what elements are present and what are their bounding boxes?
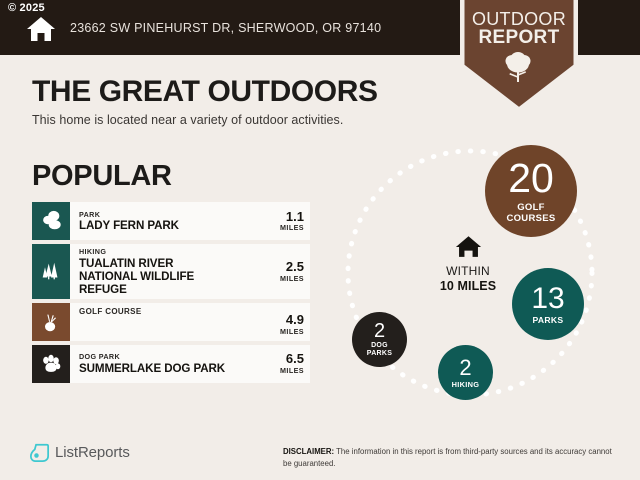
stat-value: 2 [459, 357, 471, 379]
list-item-name: SUMMERLAKE DOG PARK [79, 362, 225, 375]
stat-circle-hiking[interactable]: 2 HIKING [438, 345, 493, 400]
property-address: 23662 SW PINEHURST DR, SHERWOOD, OR 9714… [70, 21, 381, 35]
listreports-brand-text: ListReports [55, 444, 130, 461]
stat-circle-dog-parks[interactable]: 2 DOG PARKS [352, 312, 407, 367]
distance-unit: MILES [280, 327, 304, 336]
center-line-1: WITHIN [418, 265, 518, 279]
distance-value: 4.9 [280, 313, 304, 327]
stat-label-line-1: DOG [371, 342, 388, 350]
distance-unit: MILES [280, 223, 304, 232]
home-icon [418, 235, 518, 259]
hiking-pines-icon [32, 244, 70, 299]
stat-circle-parks[interactable]: 13 PARKS [512, 268, 584, 340]
list-item-body: GOLF COURSE 4.9 MILES [70, 303, 310, 341]
disclaimer: DISCLAIMER: The information in this repo… [283, 446, 613, 469]
list-item-distance: 1.1 MILES [274, 210, 304, 233]
list-item-body: PARK LADY FERN PARK 1.1 MILES [70, 202, 310, 240]
listreports-house-tag-icon [30, 443, 55, 462]
list-item[interactable]: GOLF COURSE 4.9 MILES [32, 303, 310, 341]
outdoor-report-page: © 2025 23662 SW PINEHURST DR, SHERWOOD, … [0, 0, 640, 480]
stat-circle-golf-courses[interactable]: 20 GOLF COURSES [485, 145, 577, 237]
list-item-body: DOG PARK SUMMERLAKE DOG PARK 6.5 MILES [70, 345, 310, 383]
stat-value: 20 [508, 158, 554, 199]
list-item-name: LADY FERN PARK [79, 219, 179, 232]
list-item-body: HIKING TUALATIN RIVER NATIONAL WILDLIFE … [70, 244, 310, 299]
list-item-text: HIKING TUALATIN RIVER NATIONAL WILDLIFE … [79, 247, 234, 296]
page-title: THE GREAT OUTDOORS [32, 75, 378, 109]
stat-label-line-1: PARKS [533, 316, 564, 325]
list-item-category: GOLF COURSE [79, 307, 142, 318]
list-item-distance: 6.5 MILES [274, 352, 304, 375]
stat-label-line-1: HIKING [452, 381, 480, 388]
list-item-text: PARK LADY FERN PARK [79, 210, 179, 233]
golf-icon [32, 303, 70, 341]
outdoor-report-badge: OUTDOOR REPORT [460, 0, 578, 112]
list-item-category: PARK [79, 210, 179, 220]
list-item-name: TUALATIN RIVER NATIONAL WILDLIFE REFUGE [79, 257, 234, 296]
list-item-distance: 2.5 MILES [274, 260, 304, 283]
stat-value: 2 [374, 321, 385, 341]
infographic-center-label: WITHIN 10 MILES [418, 235, 518, 293]
distance-value: 2.5 [280, 260, 304, 274]
stat-label-line-1: GOLF [517, 202, 545, 213]
nearby-amenities-infographic: 20 GOLF COURSES 13 PARKS 2 HIKING 2 DOG … [330, 140, 630, 425]
distance-unit: MILES [280, 274, 304, 283]
list-item-text: DOG PARK SUMMERLAKE DOG PARK [79, 352, 225, 375]
list-item-distance: 4.9 MILES [274, 313, 304, 338]
list-item[interactable]: DOG PARK SUMMERLAKE DOG PARK 6.5 MILES [32, 345, 310, 383]
popular-list: PARK LADY FERN PARK 1.1 MILES [32, 202, 310, 387]
distance-value: 1.1 [280, 210, 304, 224]
distance-unit: MILES [280, 366, 304, 375]
page-subtitle: This home is located near a variety of o… [32, 113, 343, 127]
stat-value: 13 [531, 284, 564, 314]
list-item-category: HIKING [79, 247, 234, 257]
home-icon [26, 15, 56, 43]
disclaimer-label: DISCLAIMER: [283, 447, 334, 456]
paw-print-icon [32, 345, 70, 383]
list-item[interactable]: HIKING TUALATIN RIVER NATIONAL WILDLIFE … [32, 244, 310, 299]
list-item-category: DOG PARK [79, 352, 225, 362]
section-heading-popular: POPULAR [32, 160, 172, 193]
stat-label-line-2: PARKS [367, 350, 392, 358]
list-item-text: GOLF COURSE [79, 307, 142, 318]
stat-label-line-2: COURSES [506, 213, 555, 224]
park-trees-icon [32, 202, 70, 240]
listreports-logo[interactable]: ListReports [30, 443, 130, 462]
copyright-label: © 2025 [8, 2, 45, 14]
distance-value: 6.5 [280, 352, 304, 366]
list-item[interactable]: PARK LADY FERN PARK 1.1 MILES [32, 202, 310, 240]
center-line-2: 10 MILES [418, 279, 518, 293]
